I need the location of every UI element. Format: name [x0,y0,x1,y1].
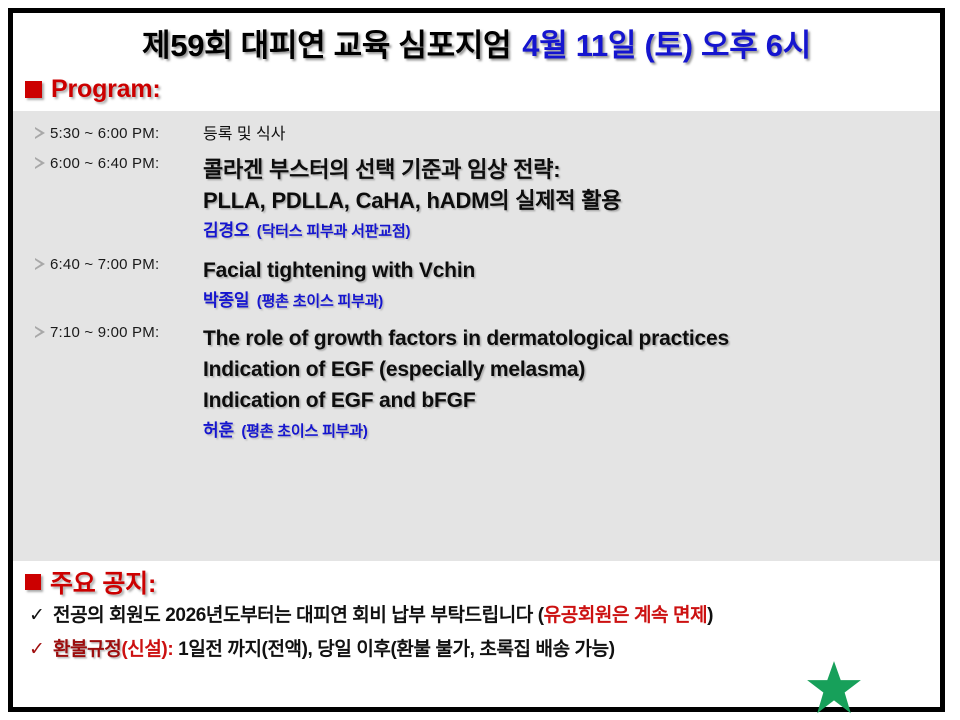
session-time: 6:00 ~ 6:40 PM: [13,154,203,173]
notice-text: 전공의 회원도 2026년도부터는 대피연 회비 납부 부탁드립니다 (유공회원… [53,599,713,633]
notice-item: ✓ 환불규정(신설): 1일전 까지(전액), 당일 이후(환불 불가, 초록집… [29,633,940,667]
program-session-row: 5:30 ~ 6:00 PM: 등록 및 식사 [13,120,940,146]
red-square-bullet-icon [25,81,42,98]
notice-item: ✓ 전공의 회원도 2026년도부터는 대피연 회비 납부 부탁드립니다 (유공… [29,599,940,633]
session-speaker: 박종일 (평촌 초이스 피부과) [203,286,940,317]
speaker-name: 김경오 [203,221,249,240]
notice-text-part-a: 환불규정 [53,639,121,660]
speaker-affiliation: (닥터스 피부과 서판교점) [257,223,411,240]
notice-text-highlight: (신설): [121,639,173,660]
notice-text-part-c: 1일전 까지(전액), 당일 이후(환불 불가, 초록집 배송 가능) [173,639,614,660]
session-title-line: PLLA, PDLLA, CaHA, hADM의 실제적 활용 [203,185,940,216]
speaker-affiliation: (평촌 초이스 피부과) [241,423,367,440]
session-title-line: Indication of EGF and bFGF [203,385,940,416]
title-date-text: 4월 11일 (토) 오후 6시 [522,20,811,65]
notices-heading-label: 주요 공지: [50,564,156,600]
notice-text-part-a: 전공의 회원도 2026년도부터는 대피연 회비 납부 부탁드립니다 ( [53,605,544,626]
session-time-label: 5:30 ~ 6:00 PM: [50,124,159,143]
session-title-line: The role of growth factors in dermatolog… [203,323,940,354]
speaker-name: 허훈 [203,421,234,440]
page-title: 제59회 대피연 교육 심포지엄 4월 11일 (토) 오후 6시 [13,13,940,67]
session-speaker: 김경오 (닥터스 피부과 서판교점) [203,216,940,247]
title-main-text: 제59회 대피연 교육 심포지엄 [142,20,511,65]
notices-list: ✓ 전공의 회원도 2026년도부터는 대피연 회비 납부 부탁드립니다 (유공… [13,599,940,667]
triangle-right-icon [35,127,45,140]
program-session-row: 6:00 ~ 6:40 PM: 콜라겐 부스터의 선택 기준과 임상 전략: P… [13,146,940,247]
red-square-bullet-icon [25,574,41,590]
notice-text: 환불규정(신설): 1일전 까지(전액), 당일 이후(환불 불가, 초록집 배… [53,633,615,667]
triangle-right-icon [35,326,45,339]
speaker-name: 박종일 [203,291,249,310]
session-time: 7:10 ~ 9:00 PM: [13,323,203,342]
session-line: 등록 및 식사 [203,124,940,146]
session-time-label: 7:10 ~ 9:00 PM: [50,323,159,342]
session-time-label: 6:40 ~ 7:00 PM: [50,255,159,274]
notices-section-heading: 주요 공지: [13,561,940,599]
program-list: 5:30 ~ 6:00 PM: 등록 및 식사 6:00 ~ 6:40 PM: … [13,111,940,561]
session-body: 콜라겐 부스터의 선택 기준과 임상 전략: PLLA, PDLLA, CaHA… [203,154,940,247]
check-mark-icon: ✓ [29,599,53,633]
session-title-line: 콜라겐 부스터의 선택 기준과 임상 전략: [203,154,940,185]
session-body: 등록 및 식사 [203,124,940,146]
notice-text-highlight: 유공회원은 계속 면제 [544,605,707,626]
session-speaker: 허훈 (평촌 초이스 피부과) [203,416,940,447]
program-session-row: 6:40 ~ 7:00 PM: Facial tightening with V… [13,247,940,317]
triangle-right-icon [35,258,45,271]
session-time: 5:30 ~ 6:00 PM: [13,124,203,143]
check-mark-icon: ✓ [29,633,53,667]
notice-text-part-c: ) [707,605,713,626]
session-time-label: 6:00 ~ 6:40 PM: [50,154,159,173]
session-title-line: Facial tightening with Vchin [203,255,940,286]
slide-frame: 제59회 대피연 교육 심포지엄 4월 11일 (토) 오후 6시 Progra… [8,8,945,712]
triangle-right-icon [35,157,45,170]
program-section-heading: Program: [13,67,940,111]
session-body: The role of growth factors in dermatolog… [203,323,940,447]
session-title-line: Indication of EGF (especially melasma) [203,354,940,385]
session-body: Facial tightening with Vchin 박종일 (평촌 초이스… [203,255,940,317]
program-session-row: 7:10 ~ 9:00 PM: The role of growth facto… [13,317,940,447]
speaker-affiliation: (평촌 초이스 피부과) [257,293,383,310]
slide-canvas: 제59회 대피연 교육 심포지엄 4월 11일 (토) 오후 6시 Progra… [0,0,960,720]
program-heading-label: Program: [51,75,161,104]
session-time: 6:40 ~ 7:00 PM: [13,255,203,274]
